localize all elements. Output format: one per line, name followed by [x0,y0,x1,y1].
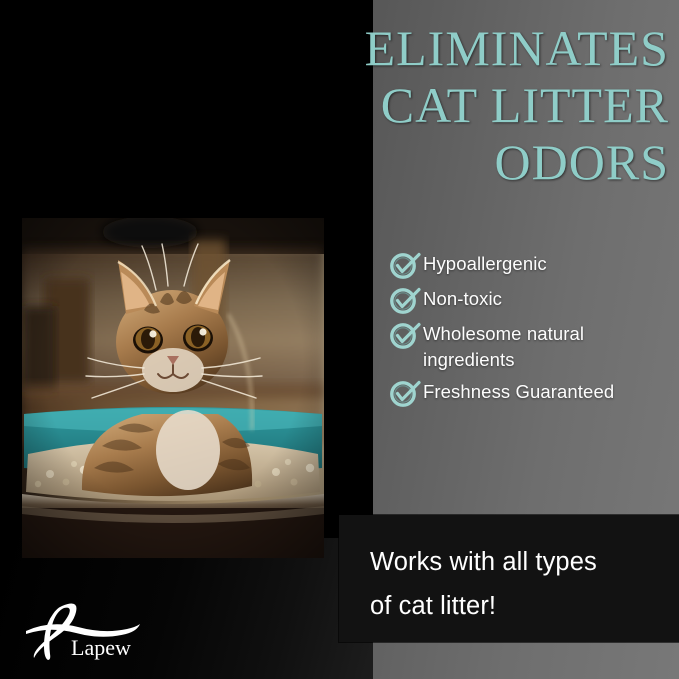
list-item: Hypoallergenic [389,250,674,280]
feature-label: Non-toxic [423,285,502,312]
feature-label: Hypoallergenic [423,250,547,277]
check-circle-icon-glyph [389,378,421,408]
check-circle-icon [389,378,423,408]
headline-line-3: ODORS [269,134,669,191]
callout-line-1: Works with all types [370,540,660,584]
product-photo-kitten [22,218,324,558]
kitten-photo-illustration [22,218,324,558]
brand-logo: Lapew [24,596,154,662]
feature-label: Wholesome natural ingredients [423,320,674,373]
callout-box: Works with all types of cat litter! [339,515,679,642]
check-circle-icon-glyph [389,320,421,350]
check-circle-icon-glyph [389,250,421,280]
list-item: Wholesome natural ingredients [389,320,674,373]
script-l-swoosh-icon: Lapew [24,596,154,662]
list-item: Freshness Guaranteed [389,378,674,408]
check-circle-icon [389,320,423,350]
check-circle-icon-glyph [389,285,421,315]
headline-line-1: ELIMINATES [269,20,669,77]
callout-line-2: of cat litter! [370,584,660,628]
headline: ELIMINATES CAT LITTER ODORS [269,20,669,191]
ad-creative: ELIMINATES CAT LITTER ODORS Hypoallergen… [0,0,679,679]
feature-list: Hypoallergenic Non-toxic Wholesome n [389,250,674,413]
logo-wordmark: Lapew [71,635,131,660]
check-circle-icon [389,285,423,315]
check-circle-icon [389,250,423,280]
feature-label: Freshness Guaranteed [423,378,614,405]
callout-text: Works with all types of cat litter! [370,540,660,628]
headline-line-2: CAT LITTER [269,77,669,134]
list-item: Non-toxic [389,285,674,315]
